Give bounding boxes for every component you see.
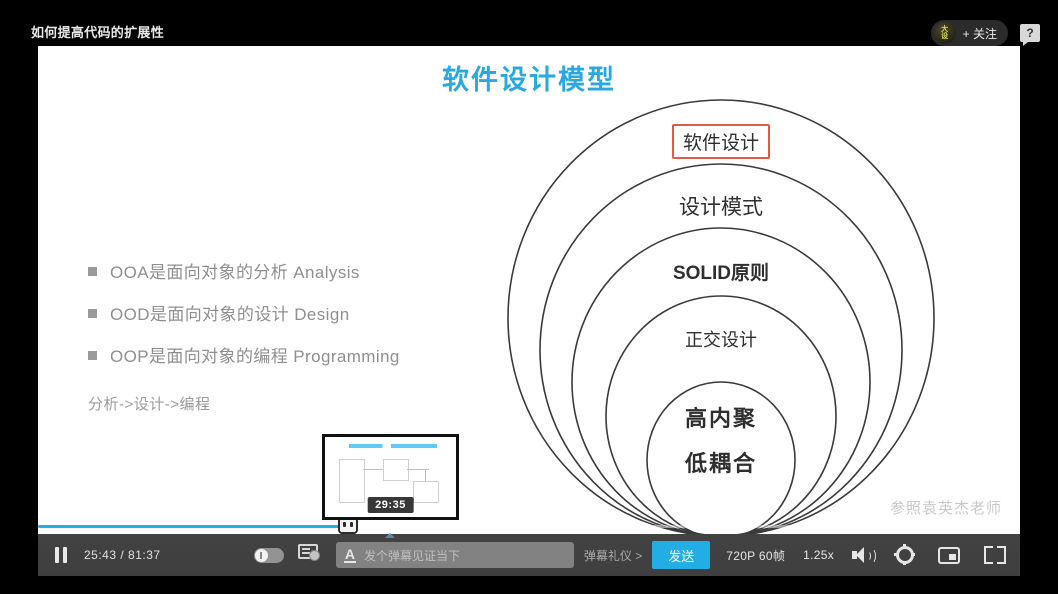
time-display: 25:43 / 81:37: [84, 548, 161, 562]
bullet-square-icon: [88, 309, 97, 318]
bullet-text: OOA是面向对象的分析 Analysis: [110, 258, 360, 283]
player-control-bar: 25:43 / 81:37 A 发个弹幕见证当下 弹幕礼仪 > 发送 720P …: [38, 534, 1020, 576]
concentric-circles-diagram: 软件设计 设计模式 SOLID原则 正交设计 高内聚 低耦合: [453, 46, 1020, 534]
gear-icon[interactable]: [896, 546, 914, 564]
list-item: OOP是面向对象的编程 Programming: [88, 342, 400, 367]
preview-timestamp: 29:35: [367, 497, 414, 513]
ring-label-4: 正交设计: [453, 326, 989, 352]
ring-label-1: 软件设计: [453, 124, 989, 159]
video-title: 如何提高代码的扩展性: [31, 22, 164, 41]
progress-played: [38, 525, 345, 528]
player-top-bar: 如何提高代码的扩展性 大设 + 关注 ?: [0, 0, 1058, 44]
seek-preview-thumbnail: 29:35: [322, 434, 459, 520]
danmaku-input[interactable]: A 发个弹幕见证当下: [336, 542, 574, 568]
follow-button-label: + 关注: [963, 25, 997, 42]
ring-label-5: 高内聚: [453, 401, 989, 433]
corner-tl: [984, 546, 993, 555]
video-player: 如何提高代码的扩展性 大设 + 关注 ? 软件设计模型 OOA是面向对象的分析 …: [0, 0, 1058, 594]
danmaku-style-link[interactable]: 弹幕礼仪 >: [584, 547, 642, 564]
pause-bar-left: [55, 547, 59, 563]
thumbnail-shape: [383, 459, 409, 481]
send-button[interactable]: 发送: [652, 541, 710, 569]
danmaku-settings-button[interactable]: [298, 544, 326, 566]
pause-button[interactable]: [44, 547, 78, 563]
corner-tr: [997, 546, 1006, 555]
slide-flow-text: 分析->设计->编程: [88, 393, 211, 414]
picture-in-picture-icon[interactable]: [938, 547, 960, 564]
thumbnail-connector: [363, 469, 383, 470]
corner-br: [997, 555, 1006, 564]
volume-icon[interactable]: [852, 546, 874, 564]
follow-pill[interactable]: 大设 + 关注: [931, 20, 1008, 46]
thumbnail-heading-bar: [349, 444, 437, 448]
top-right-actions: 大设 + 关注 ?: [931, 20, 1040, 46]
list-item: OOD是面向对象的设计 Design: [88, 300, 400, 325]
font-style-icon[interactable]: A: [344, 548, 356, 563]
ring-label-6: 低耦合: [453, 446, 989, 478]
bullet-square-icon: [88, 267, 97, 276]
pause-bar-right: [63, 547, 67, 563]
danmaku-settings-icon: [298, 544, 318, 559]
toggle-knob: [255, 549, 268, 562]
fullscreen-icon[interactable]: [984, 546, 1006, 564]
thumbnail-shape: [339, 459, 365, 503]
thumbnail-connector: [425, 469, 426, 481]
playback-speed-selector[interactable]: 1.25x: [803, 548, 834, 562]
slide-credit: 参照袁英杰老师: [890, 497, 1002, 518]
corner-bl: [984, 555, 993, 564]
ring-label-2: 设计模式: [453, 191, 989, 221]
quality-selector[interactable]: 720P 60帧: [726, 547, 785, 564]
danmaku-placeholder: 发个弹幕见证当下: [364, 547, 460, 564]
sound-wave-2: [867, 548, 876, 564]
bullet-square-icon: [88, 351, 97, 360]
highlight-box: 软件设计: [672, 124, 770, 159]
avatar[interactable]: 大设: [934, 22, 956, 44]
video-stage[interactable]: 软件设计模型 OOA是面向对象的分析 Analysis OOD是面向对象的设计 …: [38, 46, 1020, 534]
thumbnail-shape: [413, 481, 439, 503]
list-item: OOA是面向对象的分析 Analysis: [88, 258, 400, 283]
bullet-text: OOD是面向对象的设计 Design: [110, 300, 350, 325]
help-icon[interactable]: ?: [1020, 24, 1040, 42]
bullet-text: OOP是面向对象的编程 Programming: [110, 342, 400, 367]
speaker-cone: [856, 547, 864, 563]
slide-bullet-list: OOA是面向对象的分析 Analysis OOD是面向对象的设计 Design …: [88, 258, 400, 384]
progress-bar[interactable]: [38, 520, 1020, 532]
ring-label-3: SOLID原则: [453, 258, 989, 285]
danmaku-toggle[interactable]: [254, 548, 284, 563]
